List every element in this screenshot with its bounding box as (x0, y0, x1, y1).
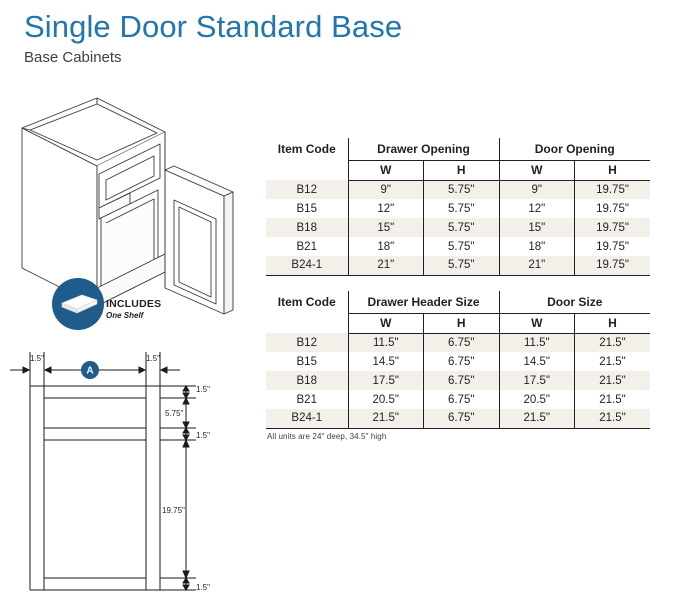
table-row: B18 17.5" 6.75" 17.5" 21.5" (266, 371, 650, 390)
cell-door-h: 19.75" (575, 218, 651, 237)
dim-door-opening-label: 19.75" (162, 506, 185, 515)
table-row: B18 15" 5.75" 15" 19.75" (266, 218, 650, 237)
front-elevation-dimension-drawing: A 1.5" 1.5" (0, 328, 250, 599)
cell-drawer-header-w: 11.5" (348, 333, 424, 352)
header-drawer-header-w: W (348, 313, 424, 333)
page-header: Single Door Standard Base Base Cabinets (24, 8, 402, 68)
header-drawer-opening-w: W (348, 160, 424, 180)
cell-door-w: 9" (499, 180, 575, 199)
header-item-code-blank (266, 313, 348, 333)
includes-label: INCLUDES (106, 298, 176, 310)
cell-drawer-h: 5.75" (424, 237, 500, 256)
cell-item-code: B18 (266, 218, 348, 237)
header-item-code: Item Code (266, 291, 348, 313)
header-door-size-w: W (499, 313, 575, 333)
header-group-drawer-header-size: Drawer Header Size (348, 291, 499, 313)
dim-right-stile-label: 1.5" (146, 354, 160, 363)
dim-top-rail-label: 1.5" (196, 385, 210, 394)
dim-left-stile-label: 1.5" (30, 354, 44, 363)
table-row: B15 14.5" 6.75" 14.5" 21.5" (266, 352, 650, 371)
cell-door-size-h: 21.5" (575, 352, 651, 371)
cell-drawer-header-h: 6.75" (424, 390, 500, 409)
cell-door-w: 15" (499, 218, 575, 237)
table-row: B21 20.5" 6.75" 20.5" 21.5" (266, 390, 650, 409)
cell-drawer-w: 18" (348, 237, 424, 256)
header-door-opening-h: H (575, 160, 651, 180)
cell-item-code: B21 (266, 237, 348, 256)
cell-drawer-header-h: 6.75" (424, 371, 500, 390)
cell-item-code: B18 (266, 371, 348, 390)
cell-drawer-header-h: 6.75" (424, 352, 500, 371)
table-row: B24-1 21" 5.75" 21" 19.75" (266, 256, 650, 275)
header-door-opening-w: W (499, 160, 575, 180)
cell-door-size-h: 21.5" (575, 371, 651, 390)
cell-door-h: 19.75" (575, 256, 651, 275)
cell-drawer-h: 5.75" (424, 256, 500, 275)
cell-drawer-w: 21" (348, 256, 424, 275)
cell-door-size-w: 21.5" (499, 409, 575, 428)
cell-door-size-h: 21.5" (575, 409, 651, 428)
cell-drawer-header-w: 17.5" (348, 371, 424, 390)
cell-door-h: 19.75" (575, 199, 651, 218)
cell-drawer-header-h: 6.75" (424, 409, 500, 428)
cell-item-code: B15 (266, 352, 348, 371)
cell-item-code: B12 (266, 180, 348, 199)
dim-drawer-opening-label: 5.75" (165, 409, 184, 418)
cell-drawer-header-w: 21.5" (348, 409, 424, 428)
cell-drawer-header-h: 6.75" (424, 333, 500, 352)
header-group-door-opening: Door Opening (499, 138, 650, 160)
cell-item-code: B24-1 (266, 409, 348, 428)
cell-drawer-w: 9" (348, 180, 424, 199)
header-item-code: Item Code (266, 138, 348, 160)
header-item-code-blank (266, 160, 348, 180)
header-drawer-header-h: H (424, 313, 500, 333)
shelf-icon (60, 294, 98, 316)
table-row: B24-1 21.5" 6.75" 21.5" 21.5" (266, 409, 650, 428)
cell-drawer-h: 5.75" (424, 199, 500, 218)
table-row: B15 12" 5.75" 12" 19.75" (266, 199, 650, 218)
cell-door-size-h: 21.5" (575, 333, 651, 352)
header-drawer-opening-h: H (424, 160, 500, 180)
table-header-group-row: Item Code Drawer Header Size Door Size (266, 291, 650, 313)
cell-drawer-header-w: 14.5" (348, 352, 424, 371)
cell-item-code: B12 (266, 333, 348, 352)
table-header-group-row: Item Code Drawer Opening Door Opening (266, 138, 650, 160)
sizes-table: Item Code Drawer Header Size Door Size W… (266, 291, 650, 429)
cell-door-w: 18" (499, 237, 575, 256)
cell-item-code: B15 (266, 199, 348, 218)
footnote: All units are 24" deep, 34.5" high (267, 432, 386, 441)
header-group-drawer-opening: Drawer Opening (348, 138, 499, 160)
cell-door-w: 21" (499, 256, 575, 275)
table-row: B12 11.5" 6.75" 11.5" 21.5" (266, 333, 650, 352)
cell-door-size-w: 11.5" (499, 333, 575, 352)
cell-drawer-header-w: 20.5" (348, 390, 424, 409)
cell-door-size-h: 21.5" (575, 390, 651, 409)
cell-drawer-w: 15" (348, 218, 424, 237)
dimension-line-art: A 1.5" 1.5" (0, 328, 250, 599)
dim-mid-rail-label: 1.5" (196, 431, 210, 440)
header-group-door-size: Door Size (499, 291, 650, 313)
includes-sublabel: One Shelf (106, 311, 176, 321)
cell-door-size-w: 14.5" (499, 352, 575, 371)
table-header-sub-row: W H W H (266, 160, 650, 180)
cell-item-code: B24-1 (266, 256, 348, 275)
cell-door-w: 12" (499, 199, 575, 218)
header-door-size-h: H (575, 313, 651, 333)
page-subtitle: Base Cabinets (24, 48, 402, 68)
cell-door-size-w: 17.5" (499, 371, 575, 390)
table-row: B21 18" 5.75" 18" 19.75" (266, 237, 650, 256)
cell-door-h: 19.75" (575, 237, 651, 256)
cell-drawer-h: 5.75" (424, 218, 500, 237)
cell-drawer-w: 12" (348, 199, 424, 218)
includes-badge: INCLUDES One Shelf (52, 278, 172, 334)
cell-drawer-h: 5.75" (424, 180, 500, 199)
table-header-sub-row: W H W H (266, 313, 650, 333)
cell-door-h: 19.75" (575, 180, 651, 199)
dim-bottom-rail-label: 1.5" (196, 583, 210, 592)
page-title: Single Door Standard Base (24, 8, 402, 46)
callout-a-letter: A (86, 366, 93, 377)
cell-item-code: B21 (266, 390, 348, 409)
cell-door-size-w: 20.5" (499, 390, 575, 409)
openings-table: Item Code Drawer Opening Door Opening W … (266, 138, 650, 276)
table-row: B12 9" 5.75" 9" 19.75" (266, 180, 650, 199)
